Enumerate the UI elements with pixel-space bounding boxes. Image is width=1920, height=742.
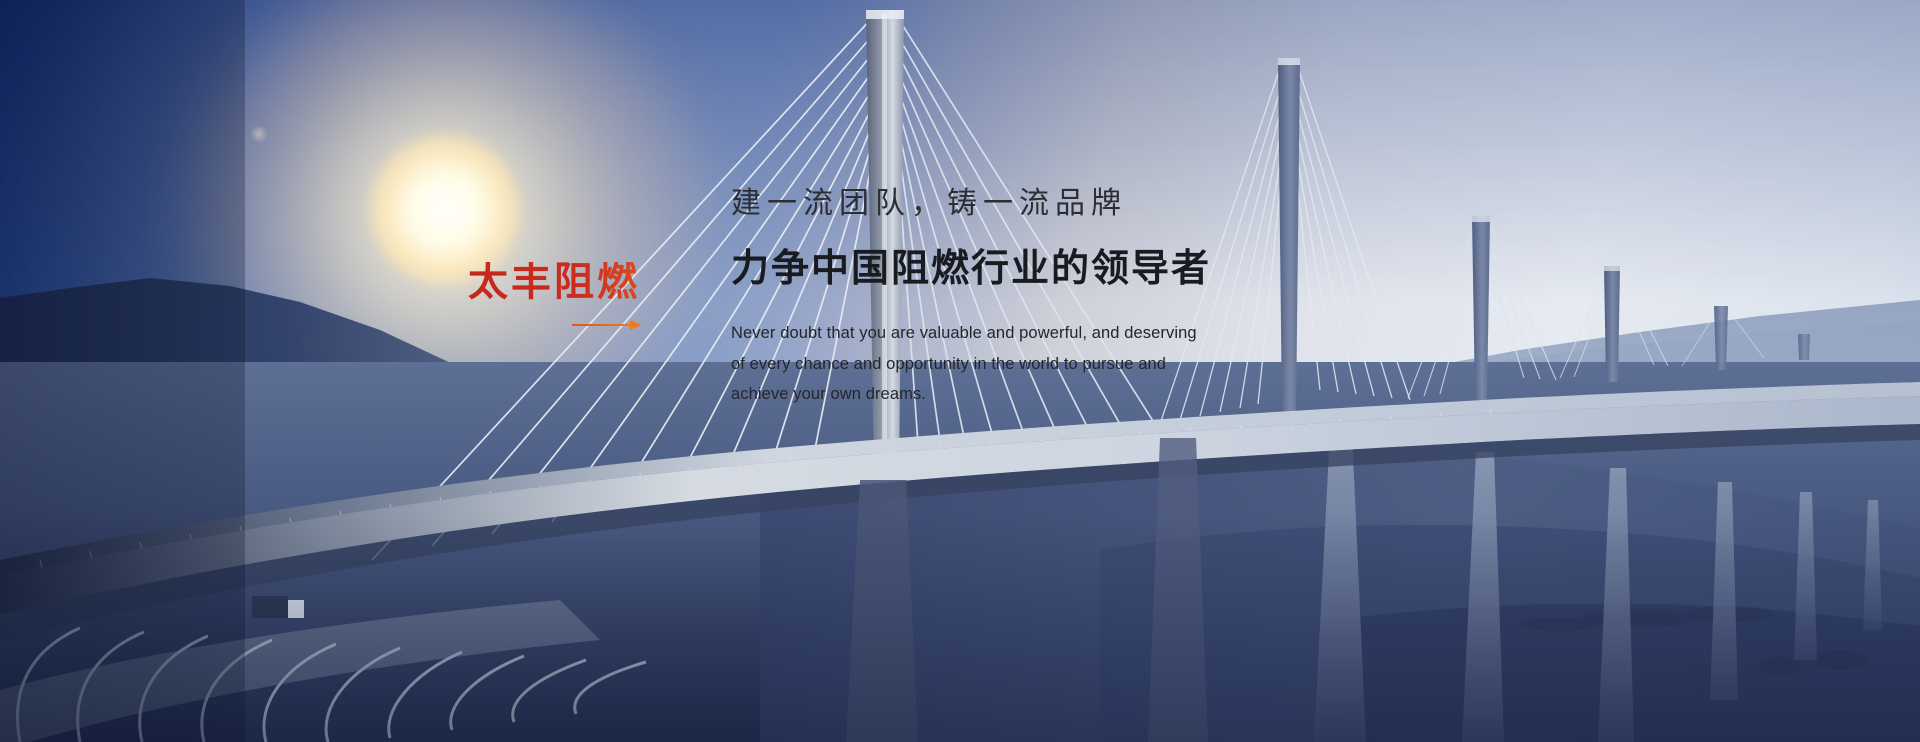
hero-subheadline: 建一流团队，铸一流品牌 [731,185,1351,223]
arrow-right-icon [572,320,642,330]
hero-paragraph-line: achieve your own dreams. [731,379,1351,410]
hero-banner: 太丰阻燃 建一流团队，铸一流品牌 力争中国阻燃行业的领导者 Never doub… [0,0,1920,742]
hero-paragraph: Never doubt that you are valuable and po… [731,318,1351,410]
banner-content: 太丰阻燃 建一流团队，铸一流品牌 力争中国阻燃行业的领导者 Never doub… [0,0,1920,742]
arrow-head [630,320,642,330]
brand-wordmark: 太丰阻燃 [468,262,668,302]
hero-paragraph-line: of every chance and opportunity in the w… [731,349,1351,380]
hero-copy: 建一流团队，铸一流品牌 力争中国阻燃行业的领导者 Never doubt tha… [731,185,1351,410]
arrow-shaft [572,324,636,326]
brand-logo[interactable]: 太丰阻燃 [468,262,668,330]
hero-paragraph-line: Never doubt that you are valuable and po… [731,318,1351,349]
hero-headline: 力争中国阻燃行业的领导者 [731,245,1351,293]
